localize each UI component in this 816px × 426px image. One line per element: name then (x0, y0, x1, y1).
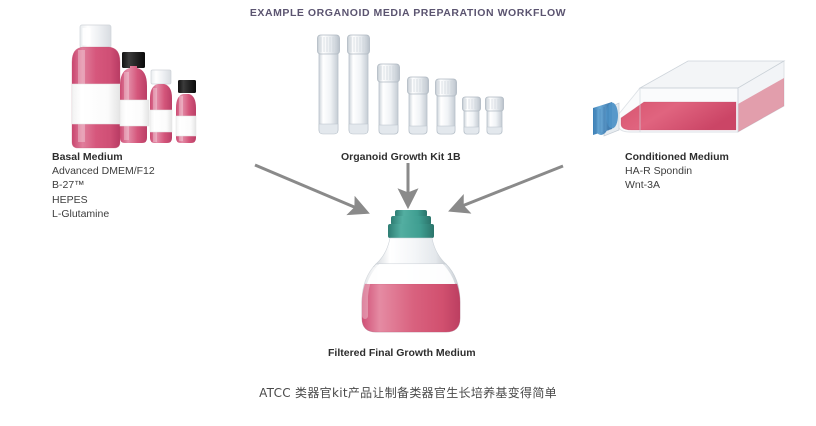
arrow-conditioned-to-final (452, 166, 563, 210)
conditioned-item-0: HA-R Spondin (625, 164, 729, 178)
arrow-basal-to-final (255, 165, 366, 212)
workflow-diagram: EXAMPLE ORGANOID MEDIA PREPARATION WORKF… (0, 0, 816, 426)
kit-heading: Organoid Growth Kit 1B (341, 150, 461, 164)
basal-item-1: B-27™ (52, 178, 155, 192)
label-filtered-final-growth-medium: Filtered Final Growth Medium (328, 346, 476, 360)
final-medium-bottle-icon (345, 208, 480, 340)
basal-item-0: Advanced DMEM/F12 (52, 164, 155, 178)
final-heading: Filtered Final Growth Medium (328, 346, 476, 360)
conditioned-item-1: Wnt-3A (625, 178, 729, 192)
figure-caption: ATCC 类器官kit产品让制备类器官生长培养基变得简单 (0, 384, 816, 401)
basal-heading: Basal Medium (52, 150, 155, 164)
label-organoid-growth-kit: Organoid Growth Kit 1B (341, 150, 461, 164)
basal-item-3: L-Glutamine (52, 207, 155, 221)
basal-item-2: HEPES (52, 193, 155, 207)
label-basal-medium: Basal Medium Advanced DMEM/F12 B-27™ HEP… (52, 150, 155, 221)
bottle-cap-icon (388, 210, 434, 238)
label-conditioned-medium: Conditioned Medium HA-R Spondin Wnt-3A (625, 150, 729, 193)
conditioned-heading: Conditioned Medium (625, 150, 729, 164)
